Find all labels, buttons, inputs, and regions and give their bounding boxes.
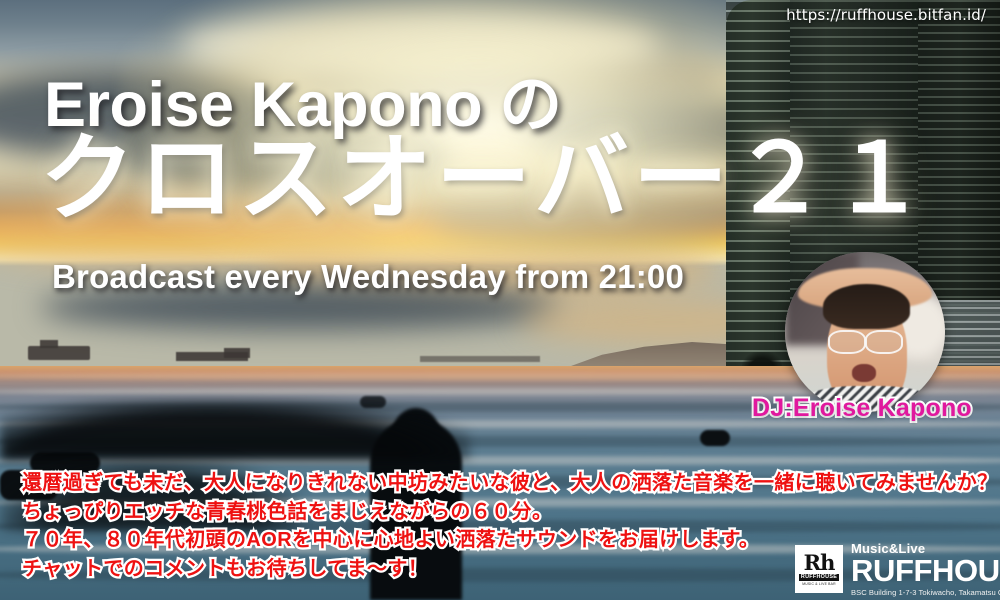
ruffhouse-logo-text: Music&Live RUFFHOUSE BSC Building 1-7-3 … xyxy=(851,542,1000,596)
overlay-content: https://ruffhouse.bitfan.id/ Eroise Kapo… xyxy=(0,0,1000,600)
show-title-japanese: クロスオーバー２１ xyxy=(40,130,930,230)
dj-portrait-photo xyxy=(785,252,945,412)
glasses-icon xyxy=(865,330,903,353)
promo-banner: https://ruffhouse.bitfan.id/ Eroise Kapo… xyxy=(0,0,1000,600)
logo-address: BSC Building 1-7-3 Tokiwacho, Takamatsu … xyxy=(851,589,1000,597)
broadcast-schedule: Broadcast every Wednesday from 21:00 xyxy=(52,258,684,296)
dj-name-label: DJ:Eroise Kapono xyxy=(752,394,972,423)
description-line: ちょっぴりエッチな青春桃色話をまじえながらの６０分。 xyxy=(22,499,998,527)
logo-mark-subtitle: MUSIC & LIVE BAR xyxy=(802,582,836,586)
logo-wordmark: RUFFHOUSE xyxy=(851,556,1000,586)
dj-mouth xyxy=(852,364,876,382)
dj-hair xyxy=(823,284,909,329)
logo-mark-name: RUFFHOUSE xyxy=(799,574,839,581)
site-url[interactable]: https://ruffhouse.bitfan.id/ xyxy=(786,6,986,24)
glasses-icon xyxy=(828,330,866,353)
ruffhouse-logo-mark: Rh RUFFHOUSE MUSIC & LIVE BAR xyxy=(795,545,843,593)
logo-monogram: Rh xyxy=(804,553,835,572)
description-line: 還暦過ぎても未だ、大人になりきれない中坊みたいな彼と、大人の洒落た音楽を一緒に聴… xyxy=(22,470,998,498)
ruffhouse-logo[interactable]: Rh RUFFHOUSE MUSIC & LIVE BAR Music&Live… xyxy=(795,542,1000,596)
